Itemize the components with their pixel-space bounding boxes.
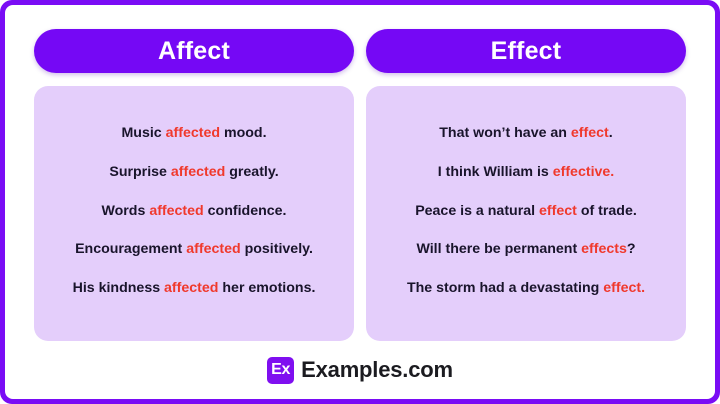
sentence-text: greatly. xyxy=(225,164,278,180)
highlighted-word: affected xyxy=(171,164,225,180)
highlighted-word: effect xyxy=(539,203,577,219)
sentence-text: That won’t have an xyxy=(439,125,571,141)
highlighted-word: effects xyxy=(581,241,627,257)
sentence-text: mood. xyxy=(220,125,267,141)
sentence-text: Words xyxy=(101,203,149,219)
column-heading-affect: Affect xyxy=(34,29,354,73)
sentence-text: Peace is a natural xyxy=(415,203,539,219)
sentence-text: Surprise xyxy=(109,164,171,180)
highlighted-word: affected xyxy=(186,241,240,257)
sentence-text: confidence. xyxy=(204,203,287,219)
example-sentence: Words affected confidence. xyxy=(42,192,346,231)
examples-card-effect: That won’t have an effect.I think Willia… xyxy=(366,86,686,341)
example-sentence: Encouragement affected positively. xyxy=(42,231,346,270)
sentence-text: her emotions. xyxy=(218,280,315,296)
highlighted-word: affected xyxy=(166,125,220,141)
sentence-text: Will there be permanent xyxy=(416,241,581,257)
infographic-canvas: Affect Music affected mood.Surprise affe… xyxy=(5,5,715,399)
column-affect: Affect Music affected mood.Surprise affe… xyxy=(34,29,354,341)
examples-logo-icon: Ex xyxy=(267,357,294,384)
column-heading-effect: Effect xyxy=(366,29,686,73)
examples-card-affect: Music affected mood.Surprise affected gr… xyxy=(34,86,354,341)
sentence-text: The storm had a devastating xyxy=(407,280,603,296)
example-sentence: Surprise affected greatly. xyxy=(42,153,346,192)
example-sentence: Music affected mood. xyxy=(42,115,346,154)
column-effect: Effect That won’t have an effect.I think… xyxy=(366,29,686,341)
example-sentence: I think William is effective. xyxy=(374,153,678,192)
sentence-text: ? xyxy=(627,241,636,257)
sentence-text: Encouragement xyxy=(75,241,186,257)
highlighted-word: affected xyxy=(164,280,218,296)
highlighted-word: effective. xyxy=(553,164,615,180)
example-sentence: Will there be permanent effects? xyxy=(374,231,678,270)
highlighted-word: affected xyxy=(149,203,203,219)
example-sentence: Peace is a natural effect of trade. xyxy=(374,192,678,231)
sentence-text: of trade. xyxy=(577,203,637,219)
sentence-text: Music xyxy=(121,125,165,141)
sentence-text: . xyxy=(609,125,613,141)
brand-name: Examples.com xyxy=(301,357,453,383)
highlighted-word: effect. xyxy=(603,280,645,296)
sentence-text: positively. xyxy=(241,241,313,257)
example-sentence: The storm had a devastating effect. xyxy=(374,270,678,309)
sentence-text: I think William is xyxy=(438,164,553,180)
comparison-columns: Affect Music affected mood.Surprise affe… xyxy=(5,5,715,341)
example-sentence: His kindness affected her emotions. xyxy=(42,270,346,309)
footer-branding: Ex Examples.com xyxy=(5,341,715,399)
sentence-text: His kindness xyxy=(73,280,164,296)
example-sentence: That won’t have an effect. xyxy=(374,115,678,154)
highlighted-word: effect xyxy=(571,125,609,141)
infographic-frame: Affect Music affected mood.Surprise affe… xyxy=(0,0,720,404)
